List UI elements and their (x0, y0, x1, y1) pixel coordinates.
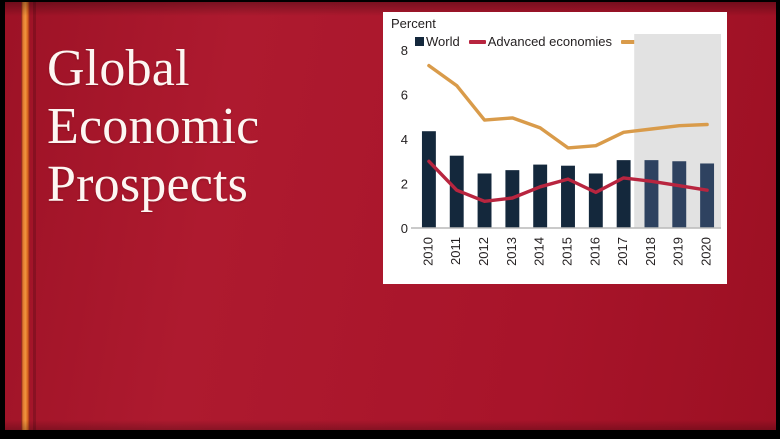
page-title: Global Economic Prospects (47, 40, 357, 215)
title-line-2: Economic (47, 98, 357, 156)
y-axis-tick-label: 8 (401, 43, 408, 58)
x-axis-tick-label: 2019 (671, 237, 686, 266)
slide-background: Global Economic Prospects Percent World … (5, 2, 776, 430)
bar-2017 (617, 160, 631, 228)
x-axis-tick-label: 2015 (559, 237, 574, 266)
y-axis-tick-label: 6 (401, 88, 408, 103)
chart-plot-area: Percent World Advanced economies EMDEs (383, 12, 727, 284)
slide-canvas: Global Economic Prospects Percent World … (0, 0, 780, 439)
chart-panel: Percent World Advanced economies EMDEs (383, 12, 727, 284)
x-axis-tick-label: 2020 (699, 237, 714, 266)
title-line-1: Global (47, 40, 357, 98)
accent-stripe-shadow (33, 2, 36, 430)
x-axis-tick-label: 2012 (476, 237, 491, 266)
y-axis-tick-label: 2 (401, 177, 408, 192)
x-axis-tick-label: 2018 (643, 237, 658, 266)
x-axis-tick-label: 2016 (587, 237, 602, 266)
x-axis-tick-label: 2014 (532, 237, 547, 266)
accent-stripe (21, 2, 30, 430)
x-axis-tick-label: 2011 (448, 237, 463, 265)
y-axis-tick-label: 0 (401, 221, 408, 236)
x-axis-tick-label: 2010 (420, 237, 435, 266)
bar-2020 (700, 163, 714, 228)
title-line-3: Prospects (47, 156, 357, 214)
bar-2018 (645, 160, 659, 228)
bar-2015 (561, 166, 575, 228)
bar-2014 (533, 165, 547, 228)
chart-svg: 0246820102011201220132014201520162017201… (383, 12, 727, 284)
x-axis-tick-label: 2017 (615, 237, 630, 266)
y-axis-tick-label: 4 (401, 132, 408, 147)
bar-2019 (672, 161, 686, 228)
x-axis-tick-label: 2013 (504, 237, 519, 266)
bar-2010 (422, 131, 436, 228)
bar-2016 (589, 173, 603, 228)
